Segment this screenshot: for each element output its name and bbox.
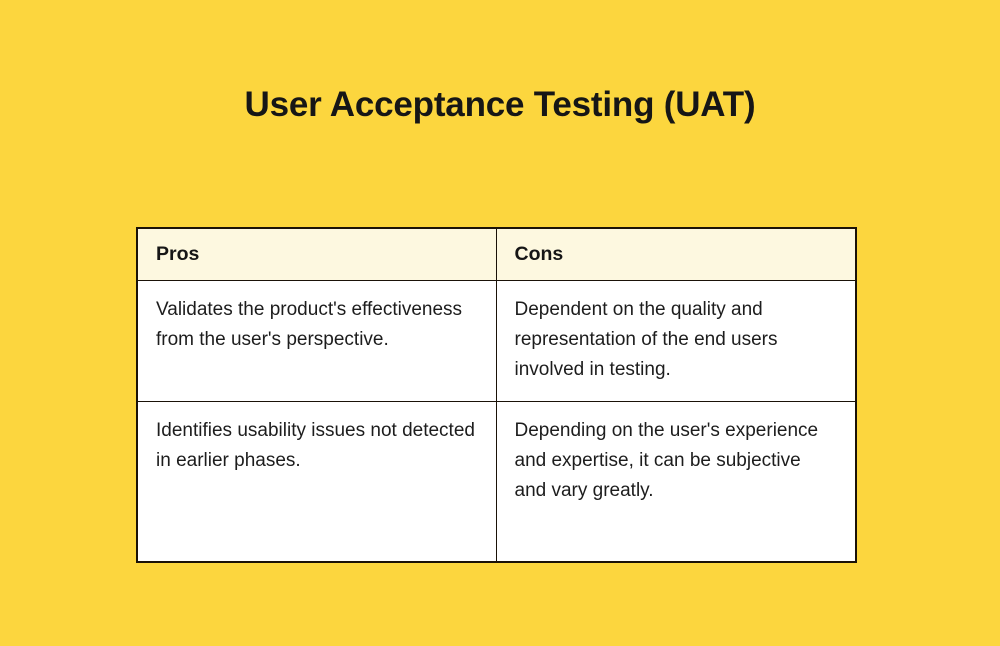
table-row: Identifies usability issues not detected… bbox=[137, 402, 856, 563]
cell-pros-2: Identifies usability issues not detected… bbox=[137, 402, 496, 563]
cell-cons-1: Dependent on the quality and representat… bbox=[496, 281, 856, 402]
cell-pros-1: Validates the product's effectiveness fr… bbox=[137, 281, 496, 402]
page-title: User Acceptance Testing (UAT) bbox=[0, 83, 1000, 127]
table-body: Validates the product's effectiveness fr… bbox=[137, 281, 856, 563]
table-header-row: Pros Cons bbox=[137, 228, 856, 281]
column-header-pros: Pros bbox=[137, 228, 496, 281]
slide-canvas: User Acceptance Testing (UAT) Pros Cons … bbox=[0, 0, 1000, 646]
table-header: Pros Cons bbox=[137, 228, 856, 281]
cell-cons-2: Depending on the user's experience and e… bbox=[496, 402, 856, 563]
column-header-cons-label: Cons bbox=[497, 229, 856, 280]
cell-cons-2-text: Depending on the user's experience and e… bbox=[497, 402, 856, 561]
cell-pros-1-text: Validates the product's effectiveness fr… bbox=[138, 281, 496, 371]
pros-cons-table: Pros Cons Validates the product's effect… bbox=[136, 227, 857, 563]
cell-cons-1-text: Dependent on the quality and representat… bbox=[497, 281, 856, 401]
table-row: Validates the product's effectiveness fr… bbox=[137, 281, 856, 402]
column-header-pros-label: Pros bbox=[138, 229, 496, 280]
cell-pros-2-text: Identifies usability issues not detected… bbox=[138, 402, 496, 531]
column-header-cons: Cons bbox=[496, 228, 856, 281]
